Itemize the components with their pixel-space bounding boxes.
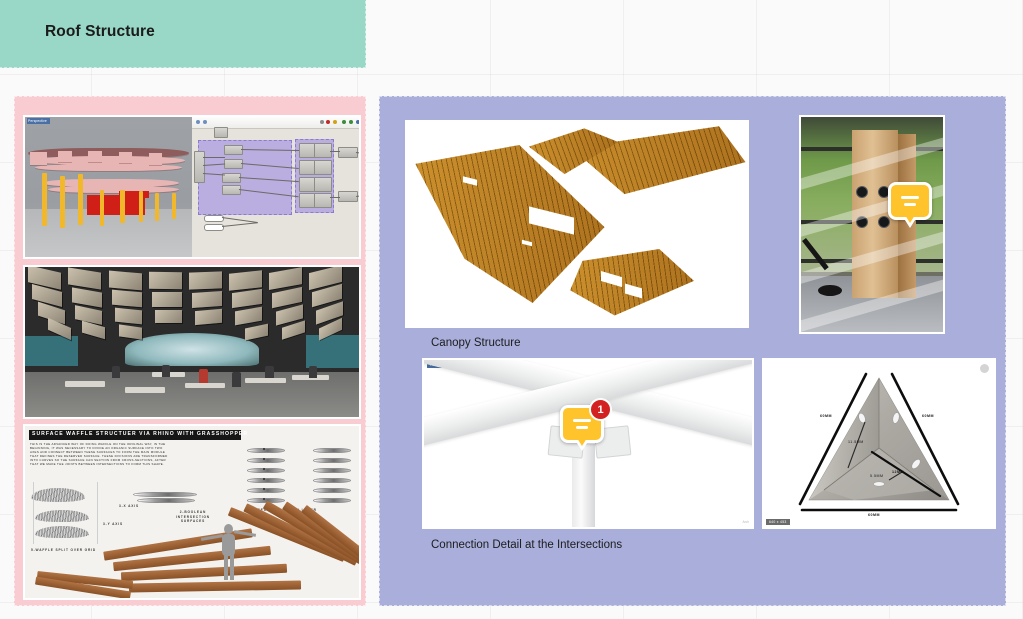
comment-pin-connection[interactable]: 1 [560, 405, 604, 443]
waffle-structure-poster[interactable]: SURFACE WAFFLE STRUCTUER VIA RHINO WITH … [23, 424, 361, 600]
rhino-grasshopper-screenshot[interactable]: Perspective [23, 115, 361, 259]
bracket-illustration [764, 360, 994, 527]
poster-title: SURFACE WAFFLE STRUCTUER VIA RHINO WITH … [32, 430, 240, 440]
image-size-badge: 640 x 453 [766, 519, 790, 525]
bracket-dim-hole: 5.5MM [870, 474, 883, 478]
comment-pin-column[interactable] [888, 182, 932, 220]
header-card[interactable]: Roof Structure [0, 0, 366, 68]
bracket-dim-slot: 11.5MM [848, 440, 864, 444]
comment-count-badge: 1 [589, 398, 612, 421]
whiteboard-canvas[interactable]: Roof Structure Perspective [0, 0, 1023, 619]
vault-end-window [125, 333, 259, 366]
bracket-dim-left: 60MM [820, 414, 832, 418]
comment-bubble-icon[interactable]: 1 [560, 405, 604, 443]
bubble-line-2 [576, 426, 588, 429]
poster-label-3: 3-Y AXIS [91, 522, 135, 527]
canopy-caption: Canopy Structure [431, 337, 521, 349]
ground-plane [25, 209, 192, 257]
poster-label-2: 3-X AXIS [107, 504, 151, 509]
bubble-line-2 [904, 203, 916, 206]
rhino-viewport: Perspective [25, 117, 192, 257]
bubble-line-1 [573, 419, 591, 422]
bracket-dim-inner: 12MM [892, 470, 904, 474]
connection-caption: Connection Detail at the Intersections [431, 539, 622, 551]
bracket-dim-bottom: 60MM [868, 513, 880, 517]
close-icon[interactable] [980, 364, 989, 373]
comment-bubble-icon[interactable] [888, 182, 932, 220]
page-title: Roof Structure [45, 23, 155, 41]
canopy-structure-render[interactable] [405, 120, 749, 328]
grasshopper-canvas [192, 117, 359, 257]
bracket-dim-right: 60MM [922, 414, 934, 418]
poster-label-1: 2-BOOLEAN INTERSECTION SURFACES [165, 510, 221, 524]
timber-column-photo[interactable] [799, 115, 945, 334]
bubble-line-1 [901, 196, 919, 199]
poster-body-text: THIS IS THE ADVANCED WAY OF DOING WAFFLE… [30, 443, 170, 466]
viewport-tab-label: Perspective [27, 118, 50, 124]
bracket-detail-photo[interactable]: 60MM 60MM 60MM 12MM 11.5MM 5.5MM 640 x 4… [762, 358, 996, 529]
timber-vault-interior-photo[interactable] [23, 265, 361, 419]
